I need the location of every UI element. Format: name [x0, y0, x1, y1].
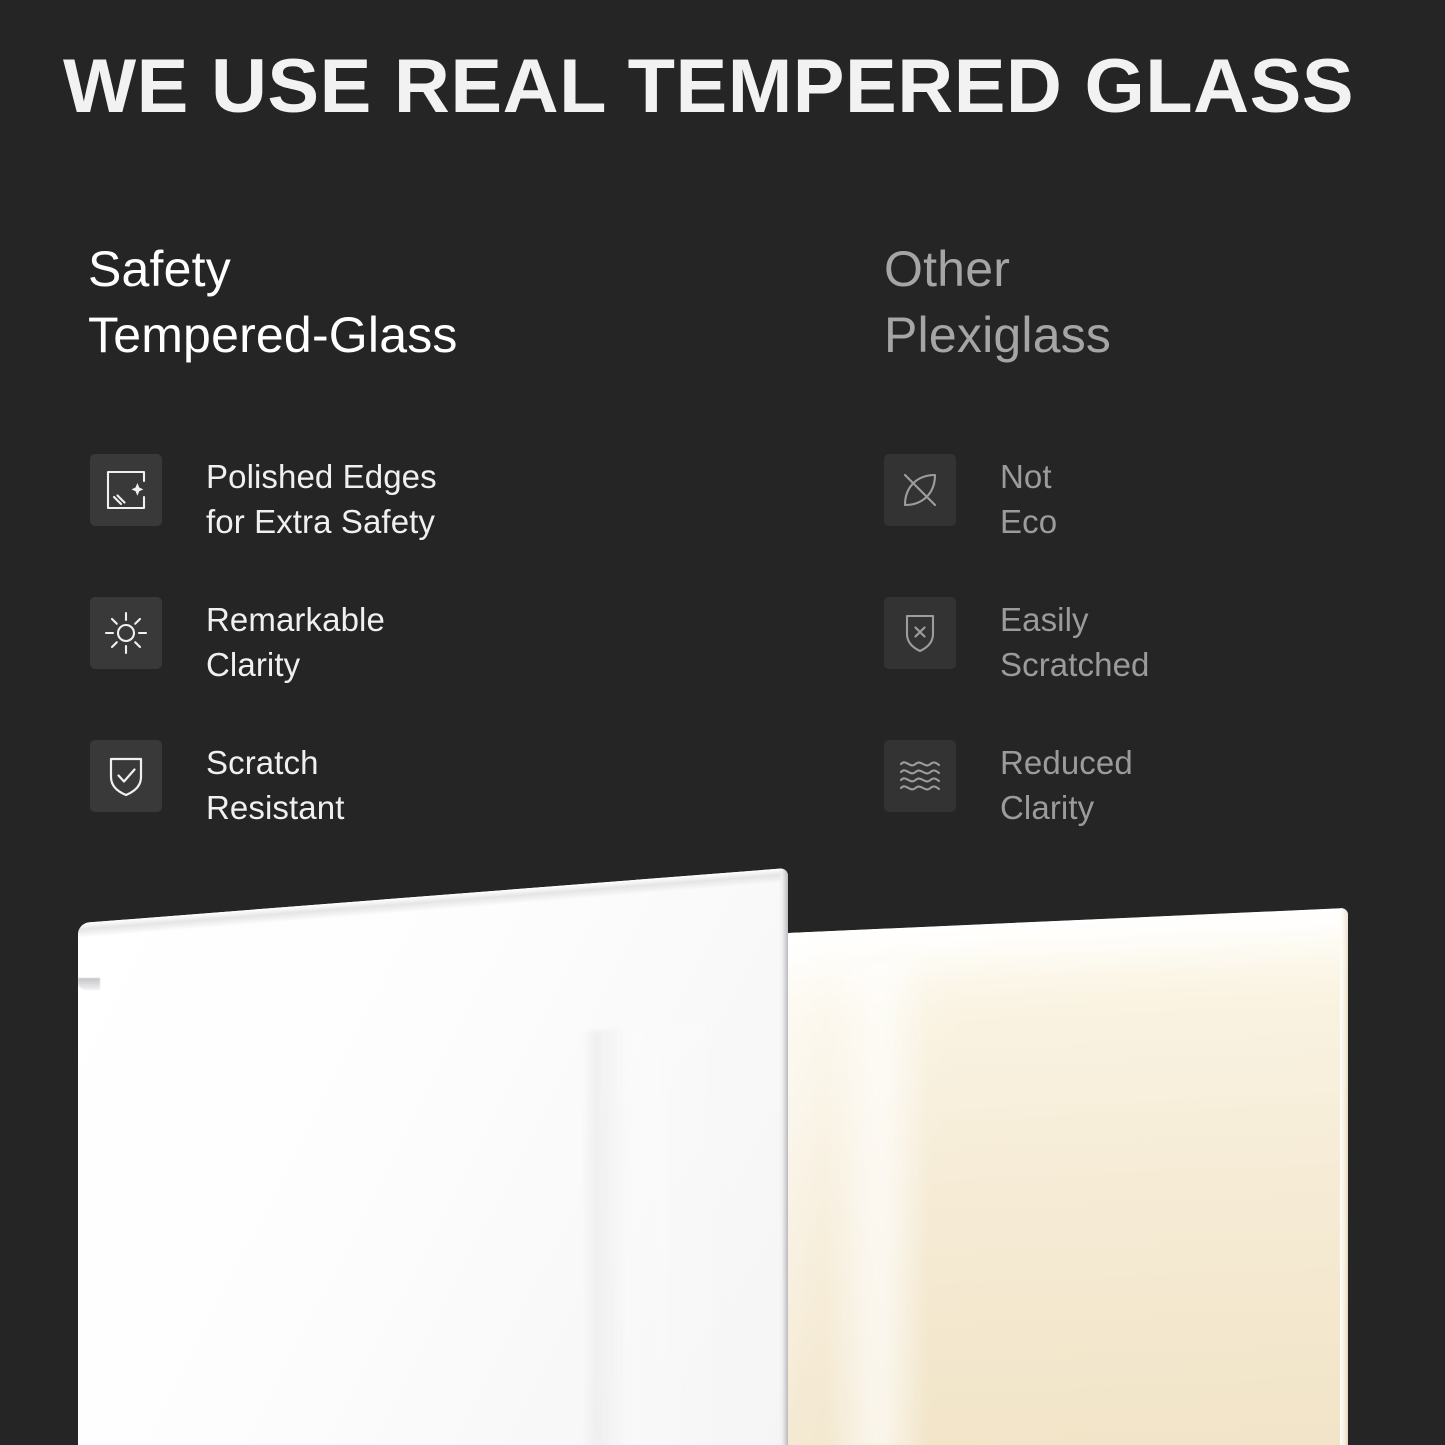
column-left-heading: Safety Tempered-Glass	[88, 236, 788, 368]
feature-label-line1: Easily	[1000, 601, 1089, 638]
page-title: WE USE REAL TEMPERED GLASS	[63, 40, 1420, 134]
shield-check-icon	[90, 740, 162, 812]
tempered-glass-panel	[78, 840, 788, 1445]
feature-label-line2: Resistant	[206, 785, 344, 830]
feature-row: Remarkable Clarity	[90, 595, 790, 738]
feature-label: Scratch Resistant	[206, 738, 344, 830]
feature-label: Reduced Clarity	[1000, 738, 1133, 830]
feature-label-line1: Reduced	[1000, 744, 1133, 781]
feature-label-line1: Scratch	[206, 744, 319, 781]
feature-label-line1: Polished Edges	[206, 458, 437, 495]
feature-label-line1: Not	[1000, 458, 1052, 495]
feature-label: Remarkable Clarity	[206, 595, 385, 687]
tempered-glass-left-corner-bevel	[78, 978, 100, 990]
feature-label: Easily Scratched	[1000, 595, 1149, 687]
column-right-heading-line1: Other	[884, 241, 1010, 297]
wavy-lines-distortion-icon	[884, 740, 956, 812]
feature-label: Not Eco	[1000, 452, 1057, 544]
feature-row: Polished Edges for Extra Safety	[90, 452, 790, 595]
feature-list-plexiglass: Not Eco Easily Scratched	[884, 452, 1444, 881]
feature-label-line2: Scratched	[1000, 642, 1149, 687]
feature-row: Easily Scratched	[884, 595, 1444, 738]
plexiglass-reflection	[824, 960, 929, 1445]
tempered-glass-reflection	[583, 1015, 788, 1445]
sun-brightness-icon	[90, 597, 162, 669]
shield-x-icon	[884, 597, 956, 669]
feature-label-line1: Remarkable	[206, 601, 385, 638]
leaf-crossed-out-icon	[884, 454, 956, 526]
feature-label-line2: for Extra Safety	[206, 499, 437, 544]
feature-label-line2: Clarity	[1000, 785, 1133, 830]
feature-row: Not Eco	[884, 452, 1444, 595]
column-left-heading-line1: Safety	[88, 241, 231, 297]
plexiglass-right-edge	[1340, 908, 1348, 1445]
feature-list-tempered-glass: Polished Edges for Extra Safety	[90, 452, 790, 881]
feature-label-line2: Eco	[1000, 499, 1057, 544]
feature-label: Polished Edges for Extra Safety	[206, 452, 437, 544]
infographic-root: WE USE REAL TEMPERED GLASS Safety Temper…	[0, 0, 1445, 1445]
column-right-heading: Other Plexiglass	[884, 236, 1444, 368]
column-left: Safety Tempered-Glass	[88, 236, 788, 368]
column-left-heading-line2: Tempered-Glass	[88, 302, 788, 368]
panel-comparison-image	[0, 840, 1445, 1445]
column-right-heading-line2: Plexiglass	[884, 302, 1444, 368]
feature-label-line2: Clarity	[206, 642, 385, 687]
column-right: Other Plexiglass	[884, 236, 1444, 368]
polished-glass-sparkle-icon	[90, 454, 162, 526]
tempered-glass-right-edge	[779, 868, 788, 1445]
plexiglass-panel	[788, 840, 1348, 1445]
